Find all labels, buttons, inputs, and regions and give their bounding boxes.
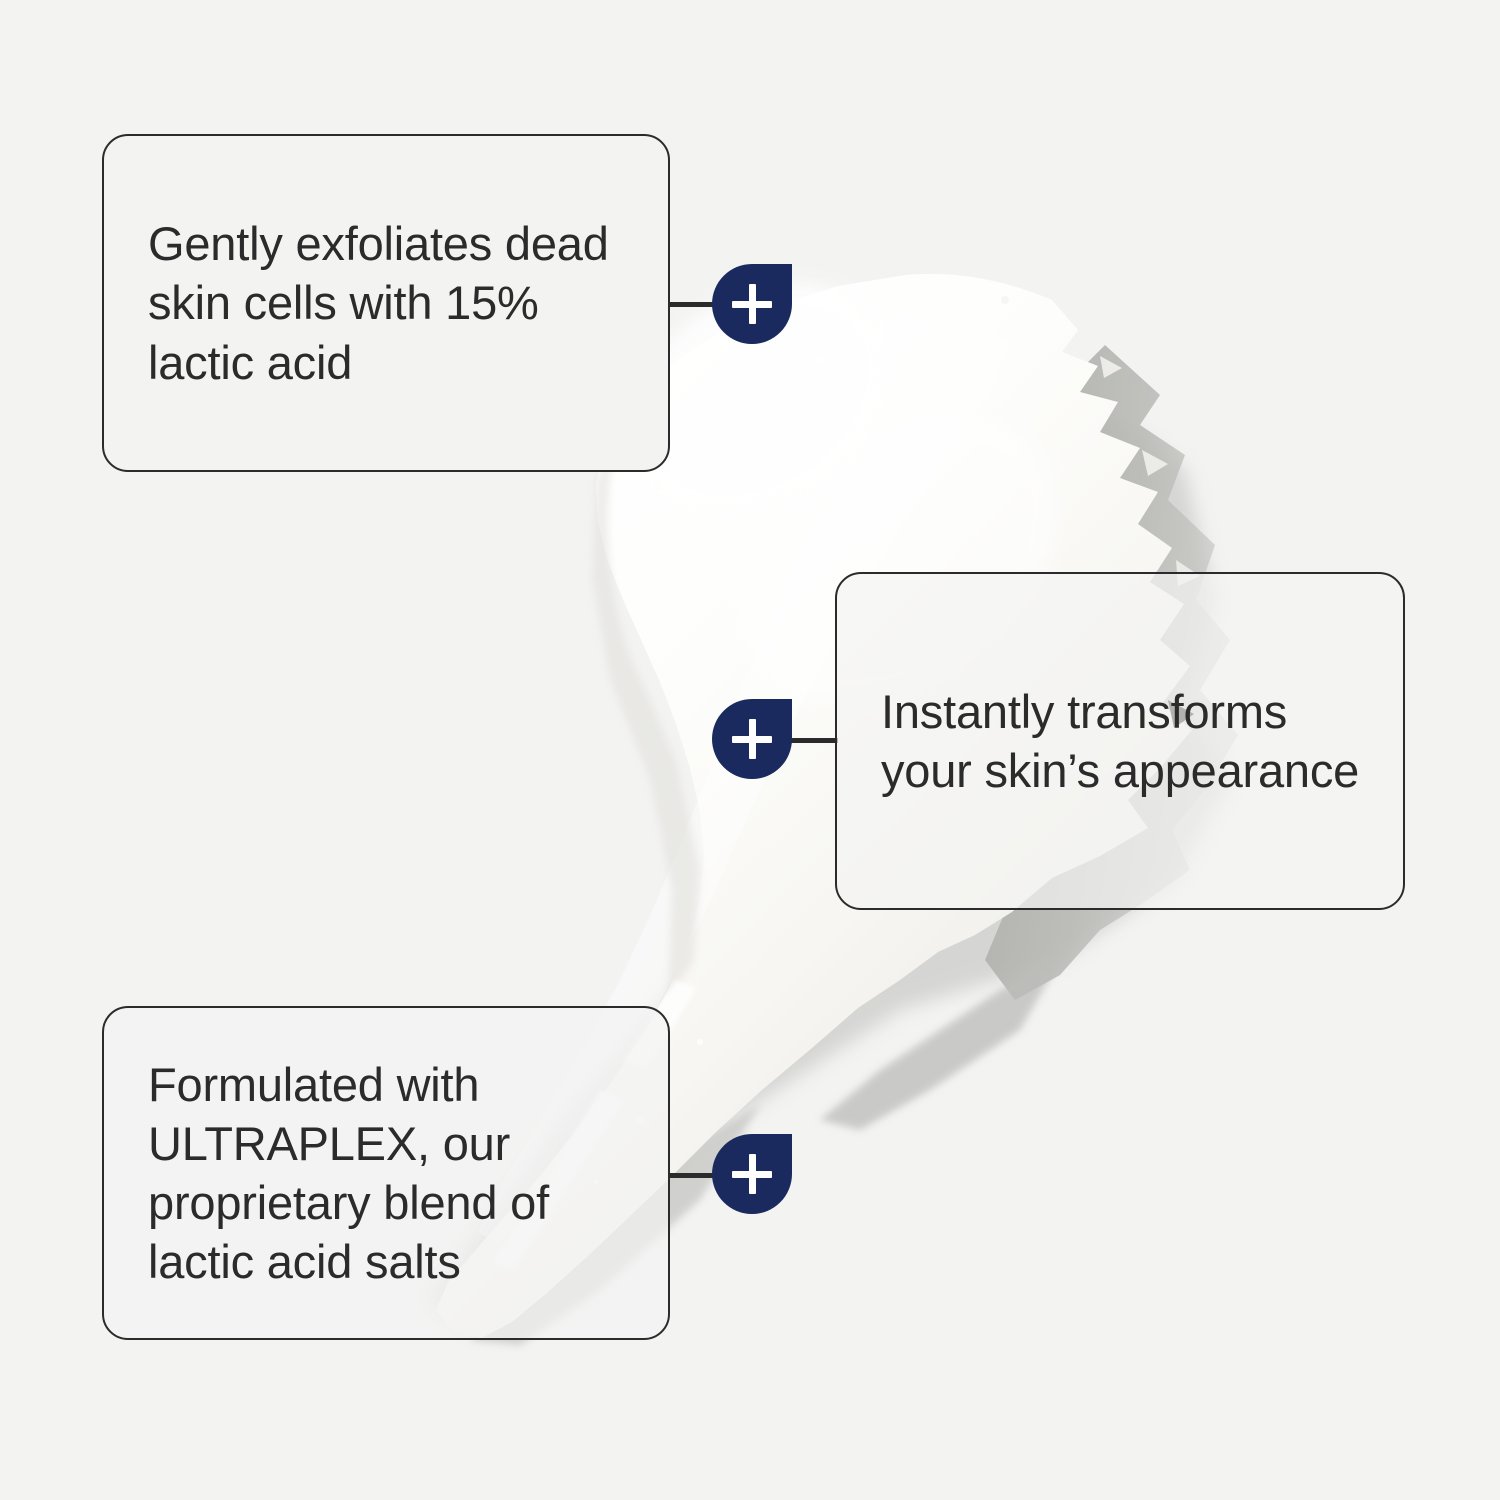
- callout-text-exfoliates: Gently exfoliates dead skin cells with 1…: [148, 214, 628, 392]
- connector-line-ultraplex: [668, 1173, 716, 1178]
- swatch-droplet-1: [815, 355, 825, 365]
- callout-text-transforms: Instantly transforms your skin’s appeara…: [881, 682, 1363, 800]
- infographic-canvas: Gently exfoliates dead skin cells with 1…: [0, 0, 1500, 1500]
- callout-text-ultraplex: Formulated with ULTRAPLEX, our proprieta…: [148, 1055, 634, 1292]
- plus-icon-vertical-bar: [749, 284, 756, 324]
- callout-box-ultraplex[interactable]: Formulated with ULTRAPLEX, our proprieta…: [102, 1006, 670, 1340]
- connector-line-transforms: [786, 738, 838, 743]
- swatch-droplet-5: [697, 1039, 703, 1045]
- plus-icon-transforms[interactable]: [712, 699, 792, 779]
- swatch-droplet-2: [1001, 296, 1009, 304]
- callout-box-exfoliates[interactable]: Gently exfoliates dead skin cells with 1…: [102, 134, 670, 472]
- connector-line-exfoliates: [668, 302, 716, 307]
- plus-icon-vertical-bar: [749, 719, 756, 759]
- plus-icon-exfoliates[interactable]: [712, 264, 792, 344]
- callout-box-transforms[interactable]: Instantly transforms your skin’s appeara…: [835, 572, 1405, 910]
- plus-icon-vertical-bar: [749, 1154, 756, 1194]
- plus-icon-ultraplex[interactable]: [712, 1134, 792, 1214]
